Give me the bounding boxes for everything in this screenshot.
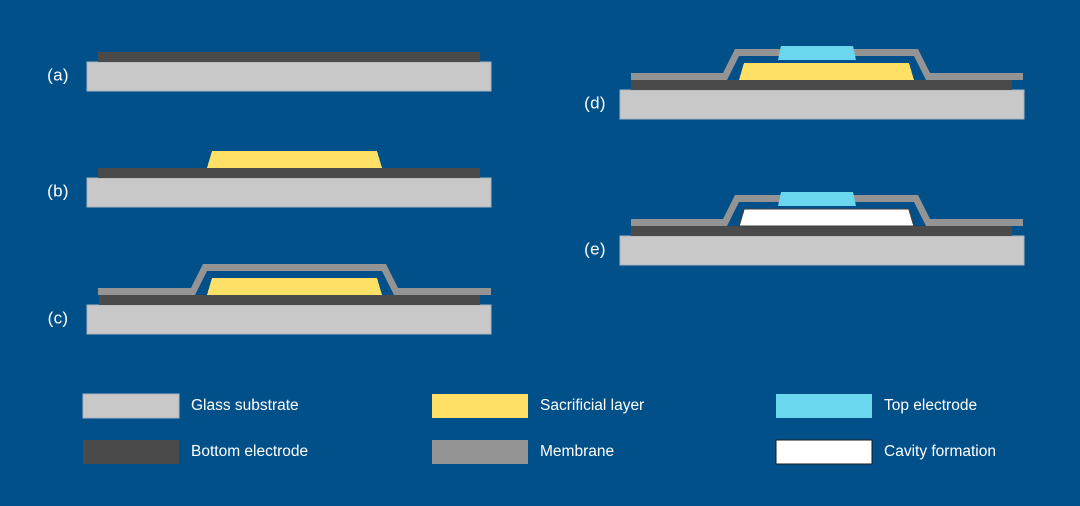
legend-label-bottom-electrode: Bottom electrode <box>191 443 308 460</box>
legend-swatch-sacrificial-layer <box>432 394 528 418</box>
legend-label-membrane: Membrane <box>540 443 614 460</box>
legend-swatch-cavity-formation <box>776 440 872 464</box>
panel-e-layer-bottom-electrode <box>631 226 1012 236</box>
panel-c-layer-sacrificial-layer <box>207 278 382 295</box>
panel-c-layer-glass-substrate <box>87 305 491 334</box>
panel-d-layer-top-electrode <box>778 46 856 60</box>
panel-label-e: (e) <box>584 239 606 258</box>
panel-a: (a) <box>47 52 491 91</box>
legend-label-glass-substrate: Glass substrate <box>191 397 299 414</box>
panel-label-d: (d) <box>584 93 606 112</box>
panel-e-layer-glass-substrate <box>620 236 1024 265</box>
legend-label-cavity-formation: Cavity formation <box>884 443 996 460</box>
panel-b-layer-bottom-electrode <box>98 168 480 178</box>
panel-a-layer-glass-substrate <box>87 62 491 91</box>
panel-label-b: (b) <box>47 181 69 200</box>
panel-label-a: (a) <box>47 65 69 84</box>
panel-label-c: (c) <box>48 308 69 327</box>
panel-a-layer-bottom-electrode <box>98 52 480 62</box>
panel-b-layer-sacrificial-layer <box>207 151 382 168</box>
panel-c-layer-bottom-electrode <box>99 295 480 305</box>
legend-swatch-top-electrode <box>776 394 872 418</box>
legend-label-sacrificial-layer: Sacrificial layer <box>540 397 644 414</box>
panel-d-layer-bottom-electrode <box>631 80 1012 90</box>
panel-b-layer-glass-substrate <box>87 178 491 207</box>
legend-swatch-glass-substrate <box>83 394 179 418</box>
panel-d-layer-sacrificial-layer <box>739 63 914 80</box>
legend-swatch-membrane <box>432 440 528 464</box>
figure-root: (a)(b)(c)(d)(e) Glass substrateBottom el… <box>0 0 1080 506</box>
legend-label-top-electrode: Top electrode <box>884 397 977 414</box>
legend-swatch-bottom-electrode <box>83 440 179 464</box>
panel-e-layer-top-electrode <box>778 192 856 206</box>
panel-d-layer-glass-substrate <box>620 90 1024 119</box>
process-flow-diagram: (a)(b)(c)(d)(e) Glass substrateBottom el… <box>0 0 1080 506</box>
panel-e-layer-cavity-formation <box>739 209 914 226</box>
